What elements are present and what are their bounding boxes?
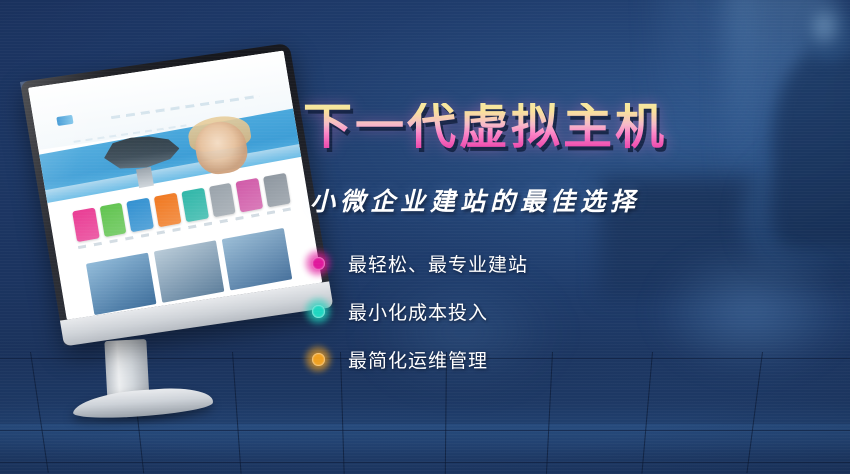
feature-list-item: 最小化成本投入 <box>303 296 528 326</box>
monitor-body <box>20 43 333 347</box>
feature-list-item-label: 最轻松、最专业建站 <box>348 250 528 277</box>
bullet-dot-magenta <box>303 248 333 278</box>
feature-list-item: 最轻松、最专业建站 <box>303 248 528 278</box>
desktop-monitor <box>6 82 288 398</box>
website-mockup <box>28 51 322 320</box>
website-thumbnail <box>154 240 225 302</box>
monitor-screen <box>28 51 322 320</box>
website-app-icon <box>209 182 236 216</box>
bullet-dot-teal <box>303 296 333 326</box>
website-app-icon <box>236 177 263 211</box>
website-app-icon <box>72 207 99 241</box>
page-subtitle: 小微企业建站的最佳选择 <box>310 182 640 218</box>
floor-grid-line-horizontal <box>0 462 850 463</box>
page-title: 下一代虚拟主机 <box>303 103 667 152</box>
feature-list-item: 最简化运维管理 <box>303 344 528 374</box>
website-thumbnail <box>222 227 293 289</box>
monitor-bezel <box>20 43 333 347</box>
promo-banner: 下一代虚拟主机 小微企业建站的最佳选择 最轻松、最专业建站最小化成本投入最简化运… <box>0 0 850 474</box>
feature-list: 最轻松、最专业建站最小化成本投入最简化运维管理 <box>303 248 528 374</box>
website-thumbnail <box>86 252 157 314</box>
website-app-icon <box>154 192 181 226</box>
person-head-silhouette <box>806 6 850 62</box>
website-app-icon <box>181 187 208 221</box>
feature-list-item-label: 最小化成本投入 <box>348 298 488 325</box>
website-app-icon <box>263 172 290 206</box>
floor-grid-line-horizontal <box>0 430 850 431</box>
feature-list-item-label: 最简化运维管理 <box>348 346 488 373</box>
website-app-icon <box>127 197 154 231</box>
bullet-dot-orange <box>303 344 333 374</box>
website-hero-device-stand <box>136 167 154 188</box>
website-app-icon <box>100 202 127 236</box>
